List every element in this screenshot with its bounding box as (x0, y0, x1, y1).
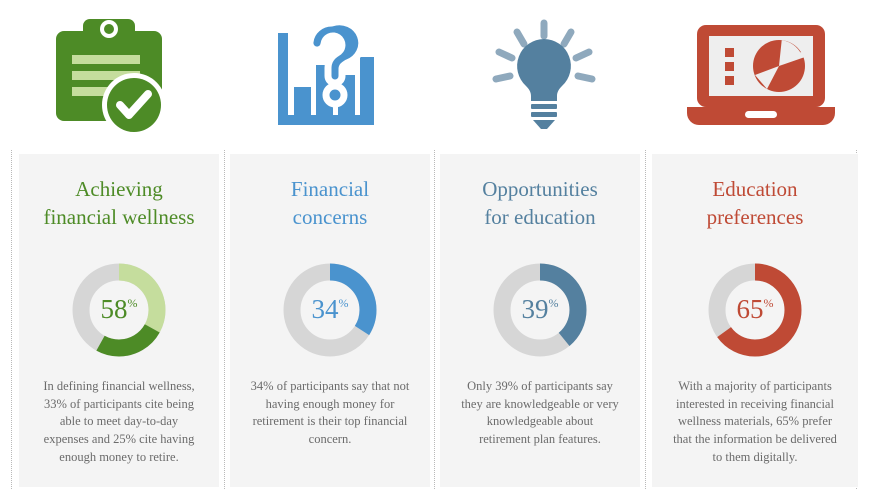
donut-percent-symbol: % (128, 297, 138, 309)
panel-caption-financial-concerns: 34% of participants say that not having … (238, 360, 422, 449)
panel-title-financial-concerns: Financial concerns (238, 154, 422, 232)
panel-title-line-1: Achieving (75, 177, 162, 201)
panel-title-line-1: Education (712, 177, 797, 201)
panel-caption-achieving-financial-wellness: In defining financial wellness, 33% of p… (27, 360, 211, 467)
panel-title-line-2: for education (484, 205, 595, 229)
panel-title-line-2: preferences (707, 205, 804, 229)
panel-title-line-2: concerns (293, 205, 368, 229)
panel-financial-concerns: Financial concerns 34% 34% of participan… (230, 154, 430, 487)
donut-value: 34 (312, 296, 339, 323)
donut-center-label-financial-concerns: 34% (280, 260, 380, 360)
panel-title-opportunities-for-education: Opportunities for education (448, 154, 632, 232)
donut-value: 58 (101, 296, 128, 323)
panel-education-preferences: Education preferences 65% With a majorit… (652, 154, 858, 487)
icon-cell-education-preferences (653, 0, 870, 150)
panel-caption-education-preferences: With a majority of participants interest… (660, 360, 850, 467)
donut-value: 39 (522, 296, 549, 323)
clipboard-check-icon (50, 13, 168, 137)
panel-opportunities-for-education: Opportunities for education 39% Only 39%… (440, 154, 640, 487)
donut-percent-symbol: % (339, 297, 349, 309)
donut-chart-financial-concerns: 34% (280, 260, 380, 360)
icon-cell-opportunities-for-education (435, 0, 653, 150)
icon-row (0, 0, 870, 150)
donut-center-label-achieving-financial-wellness: 58% (69, 260, 169, 360)
panel-title-education-preferences: Education preferences (660, 154, 850, 232)
donut-value: 65 (737, 296, 764, 323)
lightbulb-icon (489, 19, 599, 131)
panel-caption-opportunities-for-education: Only 39% of participants say they are kn… (448, 360, 632, 449)
panel-row: Achieving financial wellness 58% In defi… (0, 154, 870, 489)
donut-chart-achieving-financial-wellness: 58% (69, 260, 169, 360)
donut-percent-symbol: % (764, 297, 774, 309)
icon-cell-achieving-financial-wellness (0, 0, 218, 150)
icon-cell-financial-concerns (218, 0, 436, 150)
bar-chart-question-icon (270, 19, 382, 131)
panel-title-achieving-financial-wellness: Achieving financial wellness (27, 154, 211, 232)
panel-title-line-1: Financial (291, 177, 369, 201)
donut-center-label-opportunities-for-education: 39% (490, 260, 590, 360)
panel-achieving-financial-wellness: Achieving financial wellness 58% In defi… (19, 154, 219, 487)
donut-percent-symbol: % (549, 297, 559, 309)
infographic-root: Achieving financial wellness 58% In defi… (0, 0, 870, 489)
donut-chart-opportunities-for-education: 39% (490, 260, 590, 360)
panel-title-line-1: Opportunities (482, 177, 598, 201)
donut-chart-education-preferences: 65% (705, 260, 805, 360)
donut-center-label-education-preferences: 65% (705, 260, 805, 360)
laptop-pie-icon (683, 19, 839, 131)
panel-title-line-2: financial wellness (43, 205, 194, 229)
